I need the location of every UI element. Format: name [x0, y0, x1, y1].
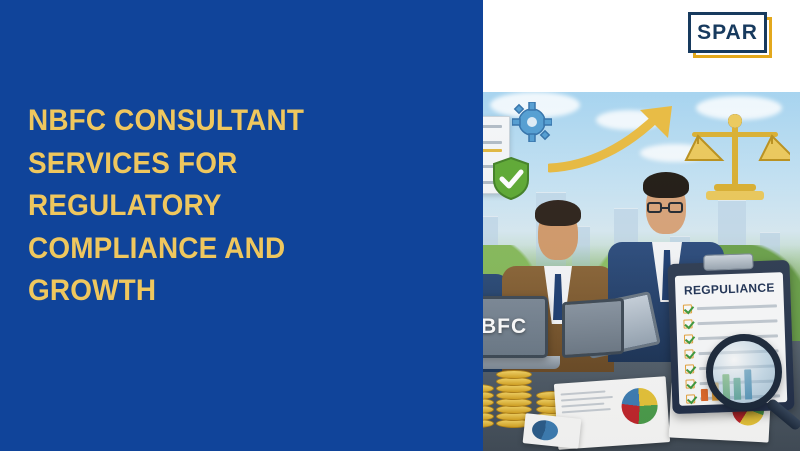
gear-icon [512, 102, 552, 142]
logo-text: SPAR [688, 12, 767, 53]
check-icon [685, 364, 694, 373]
page-title: NBFC CONSULTANT SERVICES FOR REGULATORY … [28, 100, 307, 313]
check-icon [683, 319, 692, 328]
paper-sheet [523, 413, 582, 449]
clipboard-title: REGPULIANCE [682, 280, 776, 297]
checklist-row [683, 301, 777, 313]
check-icon [684, 349, 693, 358]
clipboard-clamp [703, 253, 754, 271]
check-icon [685, 379, 694, 388]
checklist-row [683, 316, 777, 328]
spar-logo[interactable]: SPAR [688, 12, 772, 58]
banner-root: NBFC [0, 0, 800, 451]
check-icon [686, 394, 695, 403]
laptop-icon [562, 298, 624, 358]
pie-chart-icon [620, 387, 658, 425]
pie-chart-icon [531, 419, 559, 442]
check-icon [683, 304, 692, 313]
magnifier-icon [706, 334, 782, 410]
check-icon [684, 334, 693, 343]
